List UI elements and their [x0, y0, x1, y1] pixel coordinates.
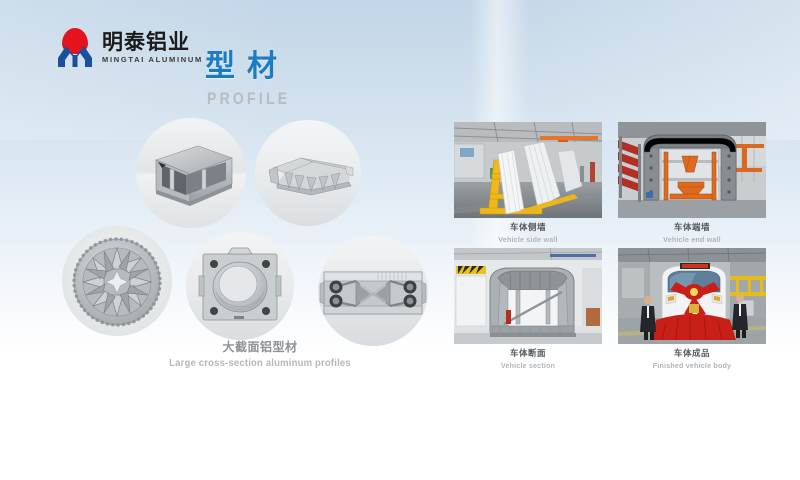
photo-caption-en: Vehicle section [458, 361, 599, 370]
photo-vehicle-side-wall [454, 122, 602, 218]
gallery-cell: 车体侧墙 Vehicle side wall [454, 122, 602, 244]
photo-caption-en: Vehicle side wall [458, 235, 599, 244]
profile-image-square-die-block [186, 232, 294, 340]
photo-caption: 车体成品 Finished vehicle body [618, 349, 766, 370]
profile-brochure-page: 明泰铝业 MINGTAI ALUMINUM 型材 PROFILE [0, 0, 800, 480]
profile-radial-finned-icon [62, 226, 172, 336]
profile-x-chamber-icon [318, 236, 428, 346]
page-title-cn: 型材 [205, 52, 309, 82]
photo-vehicle-section [454, 248, 602, 344]
gallery-cell: 车体断面 Vehicle section [454, 248, 602, 370]
finished-vehicle-body-image [618, 248, 766, 344]
profile-image-curved-truss [255, 120, 361, 226]
photo-finished-vehicle-body [618, 248, 766, 344]
profile-image-radial-finned [62, 226, 172, 336]
profile-image-x-chamber [318, 236, 428, 346]
profiles-section-caption: 大截面铝型材 Large cross-section aluminum prof… [130, 340, 390, 369]
photo-caption-cn: 车体断面 [454, 349, 602, 360]
photo-caption-en: Vehicle end wall [622, 235, 763, 244]
brand-logo-text: 明泰铝业 MINGTAI ALUMINUM [102, 32, 203, 64]
profiles-caption-en: Large cross-section aluminum profiles [137, 358, 384, 369]
vehicle-side-wall-image [454, 122, 602, 218]
photo-caption: 车体侧墙 Vehicle side wall [454, 223, 602, 244]
photo-vehicle-end-wall [618, 122, 766, 218]
gallery-cell: 车体端墙 Vehicle end wall [618, 122, 766, 244]
page-title-en: PROFILE [207, 89, 290, 109]
brand-logo: 明泰铝业 MINGTAI ALUMINUM [55, 28, 203, 68]
photo-caption-cn: 车体成品 [618, 349, 766, 360]
photo-caption-en: Finished vehicle body [622, 361, 763, 370]
photo-caption: 车体断面 Vehicle section [454, 349, 602, 370]
background-highlight [0, 0, 800, 140]
logo-m-shape [55, 41, 95, 68]
mingtai-sun-m-logo-icon [55, 28, 95, 68]
profiles-caption-cn: 大截面铝型材 [130, 340, 390, 356]
photo-caption-cn: 车体侧墙 [454, 223, 602, 234]
profile-image-box-extrusion [136, 118, 246, 228]
photo-caption-cn: 车体端墙 [618, 223, 766, 234]
gallery-cell: 车体成品 Finished vehicle body [618, 248, 766, 370]
photo-caption: 车体端墙 Vehicle end wall [618, 223, 766, 244]
profile-box-extrusion-icon [136, 118, 246, 228]
page-title: 型材 PROFILE [205, 52, 309, 109]
profile-curved-truss-icon [255, 120, 361, 226]
vehicle-end-wall-image [618, 122, 766, 218]
vehicle-section-image [454, 248, 602, 344]
profile-square-die-block-icon [186, 232, 294, 340]
brand-name-en: MINGTAI ALUMINUM [102, 56, 203, 64]
brand-name-cn: 明泰铝业 [102, 32, 203, 53]
